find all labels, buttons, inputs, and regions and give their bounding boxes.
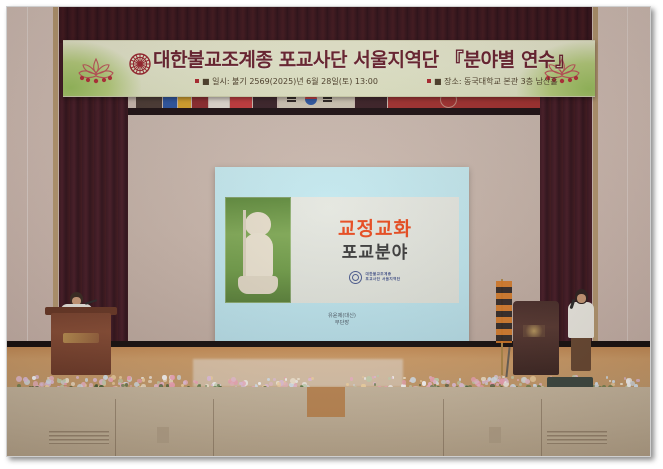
banner-title: 대한불교조계종 포교사단 서울지역단 『분야별 연수』 xyxy=(153,49,573,71)
flower-bloom xyxy=(93,378,97,382)
flower-bloom xyxy=(511,376,514,379)
slide-statue-photo xyxy=(225,197,291,303)
wall-vent-grille xyxy=(49,431,109,444)
flower-bloom xyxy=(76,376,79,379)
flower-bloom xyxy=(207,376,212,381)
flower-bloom xyxy=(230,382,234,386)
auditorium-photograph: 대한불교조계종 포교사단 서울지역단 『분야별 연수』 ■ 일시: 불기 256… xyxy=(7,7,650,456)
flower-bloom xyxy=(16,376,22,382)
flower-bloom xyxy=(410,377,416,383)
lotus-icon xyxy=(73,55,119,85)
flower-bloom xyxy=(273,378,276,381)
monk-statue-lotus-base xyxy=(238,276,278,294)
flower-bloom xyxy=(311,377,314,380)
flower-bloom xyxy=(350,377,354,381)
slide-title: 교정교화 xyxy=(338,217,412,241)
right-speaker-face xyxy=(577,294,586,303)
monk-statue-body xyxy=(243,233,273,279)
flower-bloom xyxy=(491,377,496,382)
flower-bloom xyxy=(459,378,462,381)
flower-bloom xyxy=(506,380,509,383)
panel-seam xyxy=(541,399,543,456)
flower-bloom xyxy=(485,380,488,383)
slide-presenter-name: 유윤제(대신) xyxy=(215,313,469,320)
flower-bloom xyxy=(422,381,427,386)
flower-bloom xyxy=(374,376,376,378)
flower-bloom xyxy=(149,376,152,379)
flower-bloom xyxy=(530,376,536,382)
flower-bloom xyxy=(346,383,349,386)
bullet-square-icon xyxy=(427,79,431,83)
flower-bloom xyxy=(258,382,261,385)
left-podium xyxy=(51,313,111,375)
flower-bloom xyxy=(525,379,530,384)
slide-org-line-2: 포교사단 서울지역단 xyxy=(365,277,400,282)
flower-bloom xyxy=(595,382,598,385)
wall-seam xyxy=(27,7,28,347)
flower-bloom xyxy=(112,382,115,385)
slide-org-logo-text: 대한불교조계종 포교사단 서울지역단 xyxy=(365,272,400,281)
bullet-square-icon xyxy=(195,79,199,83)
event-banner: 대한불교조계종 포교사단 서울지역단 『분야별 연수』 ■ 일시: 불기 256… xyxy=(63,40,595,97)
flower-bloom xyxy=(377,375,379,377)
wall-seam xyxy=(627,7,628,347)
dharma-wheel-icon xyxy=(129,53,151,75)
photo-frame-border: 대한불교조계종 포교사단 서울지역단 『분야별 연수』 ■ 일시: 불기 256… xyxy=(6,6,651,457)
screenshot-root: 대한불교조계종 포교사단 서울지역단 『분야별 연수』 ■ 일시: 불기 256… xyxy=(0,0,663,469)
panel-seam xyxy=(213,399,215,456)
banner-place-text: ■ 장소: 동국대학교 본관 3층 남산홀 xyxy=(434,77,558,86)
flower-bloom xyxy=(35,375,39,379)
panel-outlet xyxy=(489,427,501,443)
flower-bloom xyxy=(277,382,281,386)
flower-bloom xyxy=(177,375,181,379)
stage-curtain-top xyxy=(58,7,593,43)
flower-bloom xyxy=(519,383,522,386)
presentation-slide: 교정교화 포교분야 대한불교조계종 포교사단 서울지역단 xyxy=(225,197,459,303)
flower-bloom xyxy=(403,377,405,379)
flower-bloom xyxy=(606,376,608,378)
flag-shelf-shadow xyxy=(128,108,540,115)
flower-bloom xyxy=(620,383,623,386)
panel-seam xyxy=(443,399,445,456)
auditorium-wall-right xyxy=(592,7,650,347)
flower-bloom xyxy=(102,380,107,385)
slide-org-logo: 대한불교조계종 포교사단 서울지역단 xyxy=(349,271,400,284)
flower-foliage xyxy=(374,383,377,386)
flower-bloom xyxy=(364,377,366,379)
slide-text-panel: 교정교화 포교분야 대한불교조계종 포교사단 서울지역단 xyxy=(291,197,459,303)
banner-place-info: ■ 장소: 동국대학교 본관 3층 남산홀 xyxy=(427,76,558,87)
flower-bloom xyxy=(612,380,615,383)
flower-bloom xyxy=(142,378,146,382)
monk-statue-staff xyxy=(243,210,246,276)
flower-bloom xyxy=(609,380,612,383)
wall-vent-grille xyxy=(547,431,607,444)
slide-subtitle: 포교분야 xyxy=(342,242,409,264)
flower-bloom xyxy=(267,378,270,381)
flower-bloom xyxy=(402,380,406,384)
flower-bloom xyxy=(170,375,174,379)
flower-bloom xyxy=(119,376,122,379)
flower-bloom xyxy=(110,378,113,381)
panel-outlet xyxy=(157,427,169,443)
stage-center-steps xyxy=(307,387,345,417)
slide-presenter-role: 부단장 xyxy=(215,320,469,327)
flower-bloom xyxy=(162,375,166,379)
auditorium-wall-left xyxy=(7,7,59,347)
banner-date-info: ■ 일시: 불기 2569(2025)년 6월 28일(토) 13:00 xyxy=(195,76,378,87)
panel-seam xyxy=(115,399,117,456)
right-podium xyxy=(513,301,559,375)
flower-bloom xyxy=(636,379,639,382)
banner-date-text: ■ 일시: 불기 2569(2025)년 6월 28일(토) 13:00 xyxy=(202,77,378,86)
flower-bloom xyxy=(148,380,152,384)
flower-bloom xyxy=(46,379,51,384)
projection-screen: 교정교화 포교분야 대한불교조계종 포교사단 서울지역단 유윤제(대신) xyxy=(215,167,469,349)
flower-bloom xyxy=(127,376,131,380)
wall-trim-left xyxy=(53,7,58,347)
flower-foliage xyxy=(419,384,421,386)
right-speaker-legs xyxy=(571,337,591,371)
podium-gold-lettering xyxy=(63,333,99,343)
flower-bloom xyxy=(85,378,88,381)
slide-presenter-credit: 유윤제(대신) 부단장 xyxy=(215,313,469,327)
flower-bloom xyxy=(32,376,36,380)
flower-bloom xyxy=(239,382,242,385)
temple-flag xyxy=(496,281,512,343)
flower-bloom xyxy=(285,378,288,381)
flower-bloom xyxy=(366,376,372,382)
jogye-order-emblem-icon xyxy=(349,271,362,284)
podium-gold-emblem xyxy=(523,325,545,337)
flower-bloom xyxy=(290,378,296,384)
flower-bloom xyxy=(269,382,273,386)
flower-bloom xyxy=(517,379,519,381)
